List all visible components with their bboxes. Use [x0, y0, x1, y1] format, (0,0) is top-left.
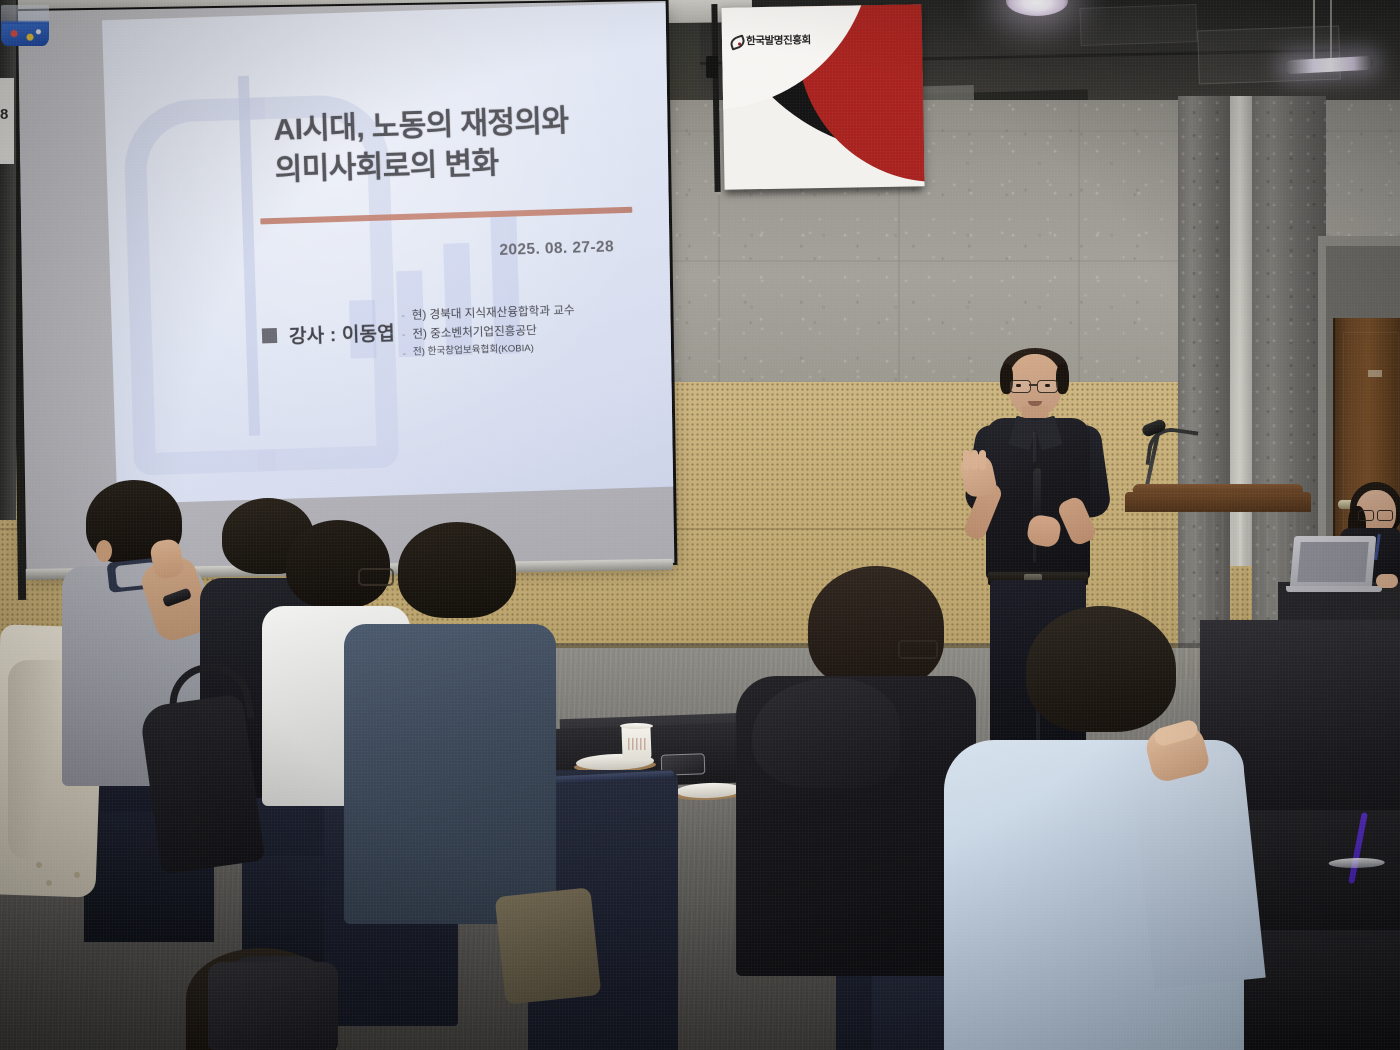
- paper-cup-print: [628, 738, 646, 750]
- backpack: [208, 962, 338, 1050]
- door-sign-plate: [1368, 370, 1382, 377]
- left-sign-text: 8: [0, 106, 8, 123]
- square-bullet-icon: [262, 328, 277, 343]
- audience-hair: [398, 522, 516, 618]
- lecture-hall-photo: AI시대, 노동의 재정의와 의미사회로의 변화 2025. 08. 27-28…: [0, 0, 1400, 1050]
- banner-clip: [706, 56, 718, 78]
- lecturer-credentials: - 현) 경북대 지식재산융합학과 교수 - 전) 중소벤처기업진흥공단 - 전…: [401, 299, 663, 364]
- ceiling-access-tile-secondary: [1079, 4, 1197, 46]
- plastic-cup-rim: [1329, 858, 1385, 869]
- tan-bag: [495, 887, 602, 1004]
- presenter-finger: [979, 450, 986, 470]
- lecturer-name: 강사 : 이동엽: [289, 318, 396, 348]
- lecturer-row: 강사 : 이동엽: [262, 318, 396, 349]
- organization-mark-icon: [730, 34, 743, 47]
- jacket-button-icon: [36, 862, 42, 868]
- dash-bullet-icon: -: [401, 307, 405, 326]
- slide-title: AI시대, 노동의 재정의와 의미사회로의 변화: [273, 98, 674, 191]
- audience-arm-raised: [1130, 749, 1265, 989]
- staff-hand: [1376, 574, 1398, 588]
- organization-name: 한국발명진흥회: [746, 32, 811, 48]
- jacket-button-icon: [46, 880, 52, 886]
- banner-logo: 한국발명진흥회: [730, 32, 811, 48]
- podium-top: [1125, 492, 1311, 512]
- audience-hair: [1026, 606, 1176, 732]
- audience-torso-blue-shirt: [344, 624, 556, 924]
- dash-bullet-icon: -: [402, 345, 406, 364]
- plastic-cup-label: [2, 24, 48, 46]
- slide-date: 2025. 08. 27-28: [499, 238, 614, 260]
- laptop-display-panel: [1297, 542, 1368, 582]
- left-partial-sign: 8: [0, 78, 14, 164]
- laptop-keyboard-base[interactable]: [1286, 586, 1382, 592]
- organization-banner: 한국발명진흥회: [721, 4, 924, 189]
- projected-slide: AI시대, 노동의 재정의와 의미사회로의 변화 2025. 08. 27-28…: [102, 2, 674, 504]
- paper-cup-rim: [620, 723, 653, 729]
- ceiling-access-tile: [1197, 26, 1341, 85]
- staff-eyeglasses-icon: [1358, 510, 1392, 519]
- presenter-eye-right: [1045, 384, 1050, 387]
- dash-bullet-icon: -: [402, 326, 406, 345]
- eyeglasses-icon: [898, 640, 938, 659]
- clear-plastic-cup: [1332, 858, 1383, 905]
- audience-ear: [96, 540, 112, 562]
- jacket-button-icon: [74, 872, 80, 878]
- eyeglasses-icon: [358, 568, 394, 586]
- presenter-eye-left: [1016, 384, 1021, 387]
- audience-hair: [286, 520, 390, 608]
- audience-hair: [808, 566, 944, 688]
- credential-text: 전) 한국창업보육협회(KOBIA): [413, 341, 534, 360]
- presenter-finger: [971, 450, 978, 470]
- presenter-finger: [963, 450, 970, 470]
- pendant-rod-secondary: [1330, 0, 1332, 58]
